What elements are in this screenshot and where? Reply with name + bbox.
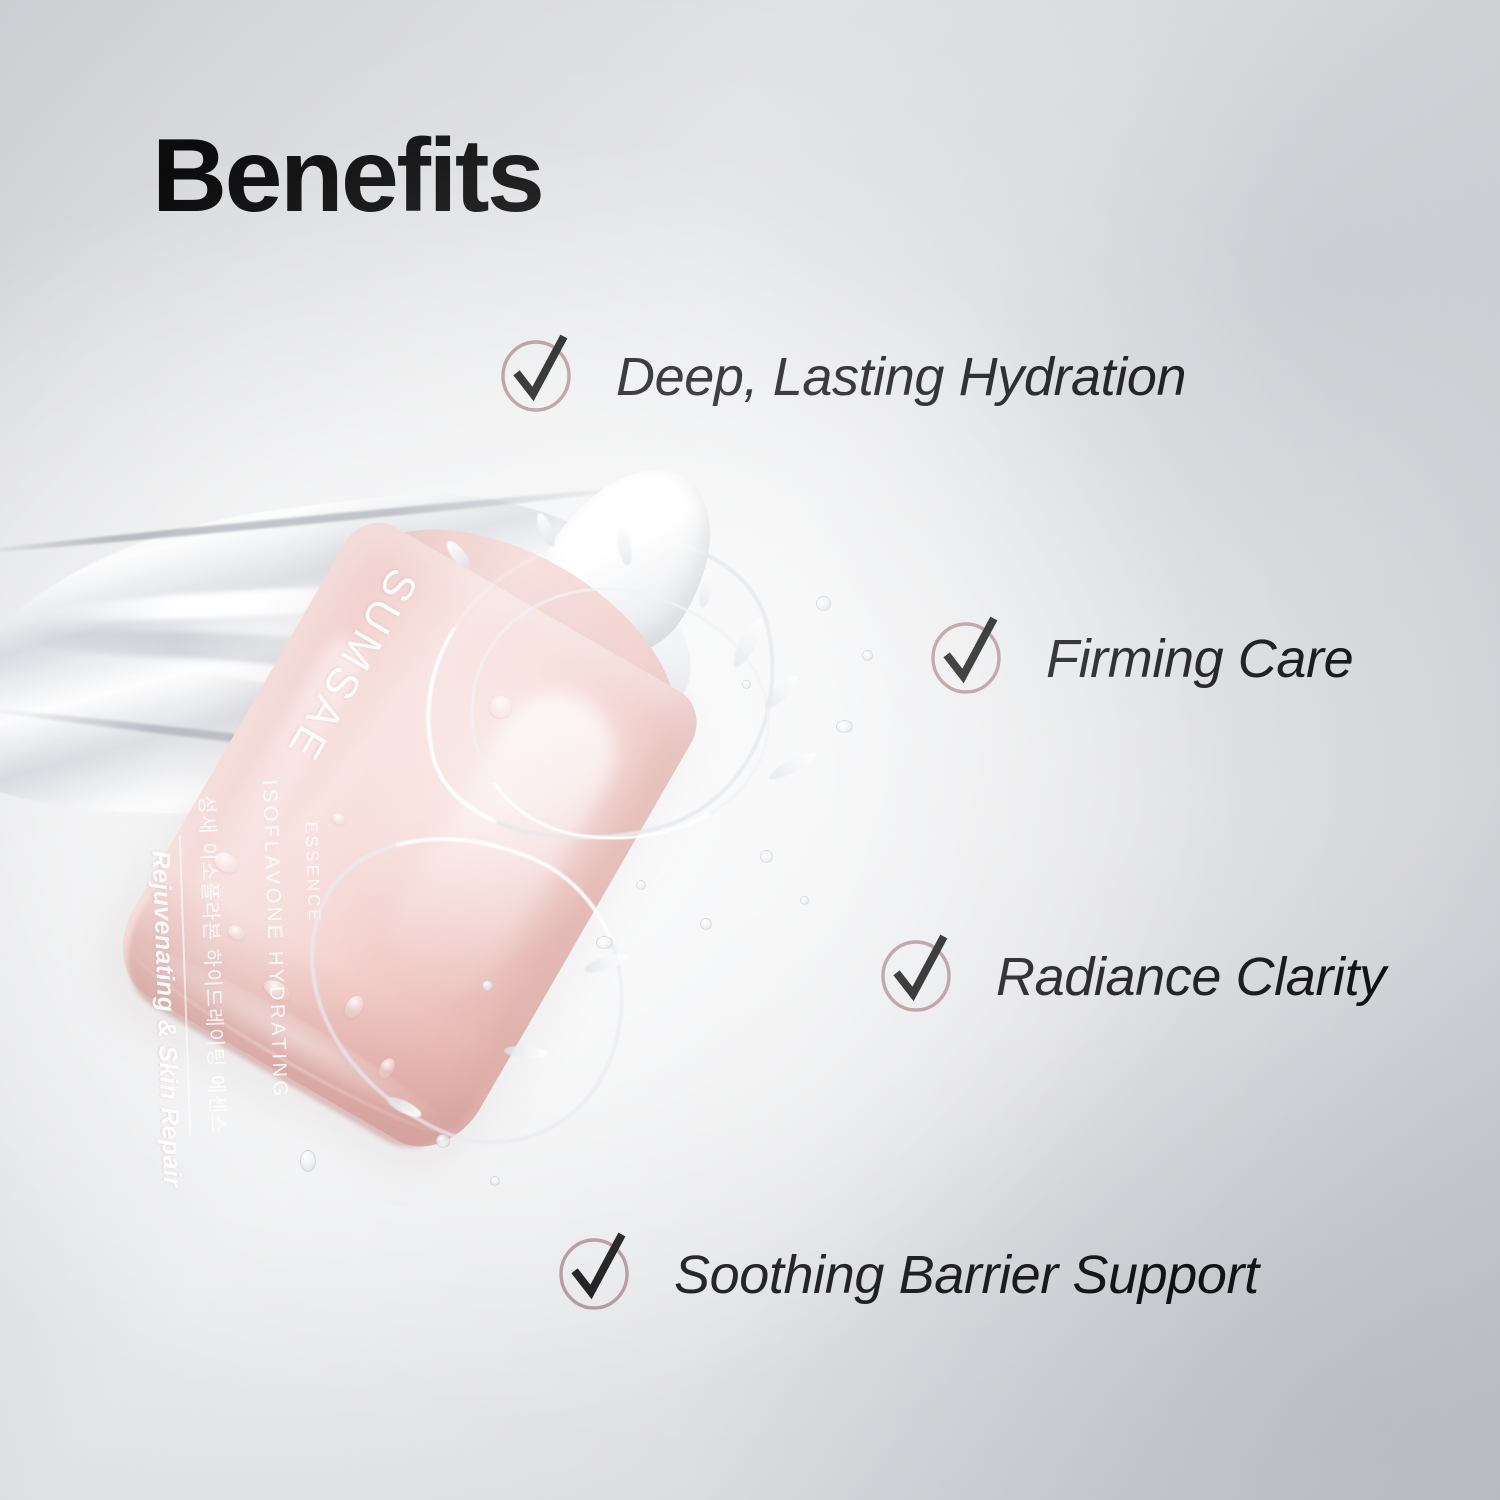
water-splash-spike <box>534 511 559 549</box>
benefit-item: Deep, Lasting Hydration <box>498 338 1186 416</box>
benefit-label: Soothing Barrier Support <box>674 1247 1259 1304</box>
check-circle-icon <box>928 620 1006 698</box>
water-droplet <box>490 1176 500 1186</box>
benefit-label: Radiance Clarity <box>996 949 1386 1006</box>
water-droplet <box>700 918 712 930</box>
water-droplet <box>742 680 751 689</box>
page-title: Benefits <box>152 124 542 228</box>
product-photo-composition: SUMSAE ISOFLAVONE HYDRATING ESSENCE 성새 이… <box>0 420 900 1240</box>
water-splash-spike <box>761 671 802 712</box>
water-splash-spike <box>504 1044 549 1059</box>
product-benefits-graphic: SUMSAE ISOFLAVONE HYDRATING ESSENCE 성새 이… <box>0 0 1500 1500</box>
water-droplet <box>816 596 831 611</box>
water-splash-spike <box>766 748 818 784</box>
water-droplet <box>300 1150 316 1172</box>
benefit-item: Firming Care <box>928 620 1353 698</box>
water-droplet <box>760 850 773 863</box>
check-circle-icon <box>498 338 576 416</box>
water-droplet <box>436 1134 450 1148</box>
benefit-item: Radiance Clarity <box>878 938 1386 1016</box>
check-circle-icon <box>878 938 956 1016</box>
benefit-label: Firming Care <box>1046 631 1353 688</box>
water-splash-spike <box>728 615 767 670</box>
water-droplet <box>636 880 646 890</box>
water-droplet <box>482 980 493 991</box>
water-droplet <box>836 720 853 733</box>
bottle-product-type: ESSENCE <box>300 821 324 924</box>
check-circle-icon <box>556 1236 634 1314</box>
benefit-label: Deep, Lasting Hydration <box>616 349 1186 406</box>
water-droplet <box>800 896 809 905</box>
benefit-item: Soothing Barrier Support <box>556 1236 1259 1314</box>
water-droplet <box>862 650 873 661</box>
water-droplet <box>596 936 613 949</box>
water-splash-spike <box>583 950 631 977</box>
